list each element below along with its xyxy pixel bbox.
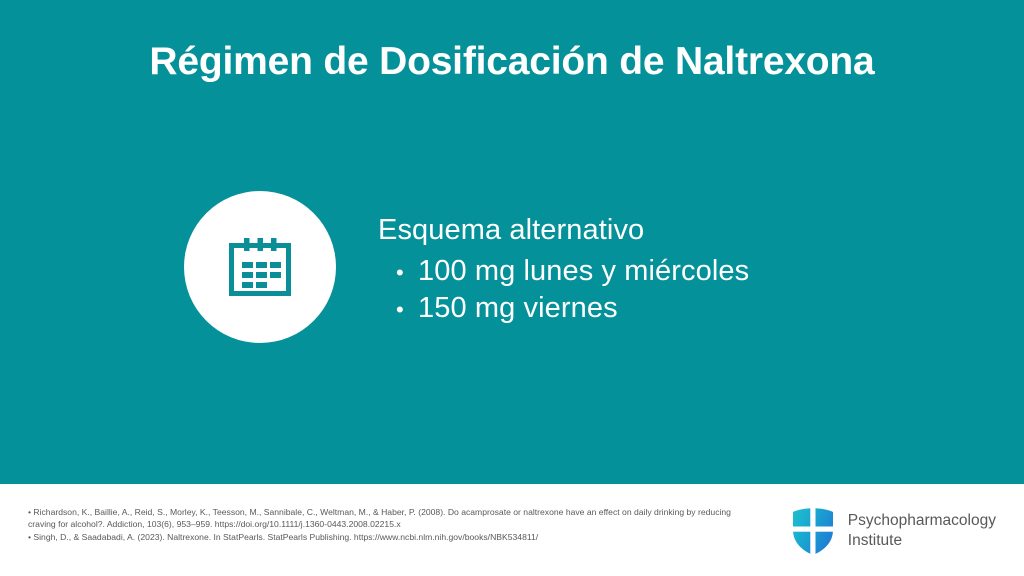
list-item-label: 100 mg lunes y miércoles <box>418 253 978 290</box>
bullet-marker-icon: • <box>396 299 418 321</box>
page-title: Régimen de Dosificación de Naltrexona <box>0 40 1024 85</box>
brand-logo-line1: Psychopharmacology <box>848 511 996 531</box>
shield-logo-icon <box>791 506 835 556</box>
brand-logo-line2: Institute <box>848 531 996 551</box>
slide-root: Régimen de Dosificación de Naltrexona <box>0 0 1024 576</box>
bullet-marker-icon: • <box>396 262 418 284</box>
list-item: • 150 mg viernes <box>378 290 978 327</box>
bullet-list: • 100 mg lunes y miércoles • 150 mg vier… <box>378 253 978 327</box>
list-item-label: 150 mg viernes <box>418 290 978 327</box>
content-block: Esquema alternativo • 100 mg lunes y mié… <box>378 212 978 327</box>
brand-logo: Psychopharmacology Institute <box>791 502 996 560</box>
slide-body-panel: Régimen de Dosificación de Naltrexona <box>0 0 1024 484</box>
citation-entry: • Richardson, K., Baillie, A., Reid, S.,… <box>28 506 744 531</box>
icon-badge <box>184 191 336 343</box>
citation-list: • Richardson, K., Baillie, A., Reid, S.,… <box>28 506 744 543</box>
calendar-icon <box>229 238 291 296</box>
content-heading: Esquema alternativo <box>378 212 978 249</box>
slide-footer: • Richardson, K., Baillie, A., Reid, S.,… <box>0 484 1024 576</box>
citation-entry: • Singh, D., & Saadabadi, A. (2023). Nal… <box>28 531 744 543</box>
brand-logo-text: Psychopharmacology Institute <box>848 511 996 552</box>
list-item: • 100 mg lunes y miércoles <box>378 253 978 290</box>
